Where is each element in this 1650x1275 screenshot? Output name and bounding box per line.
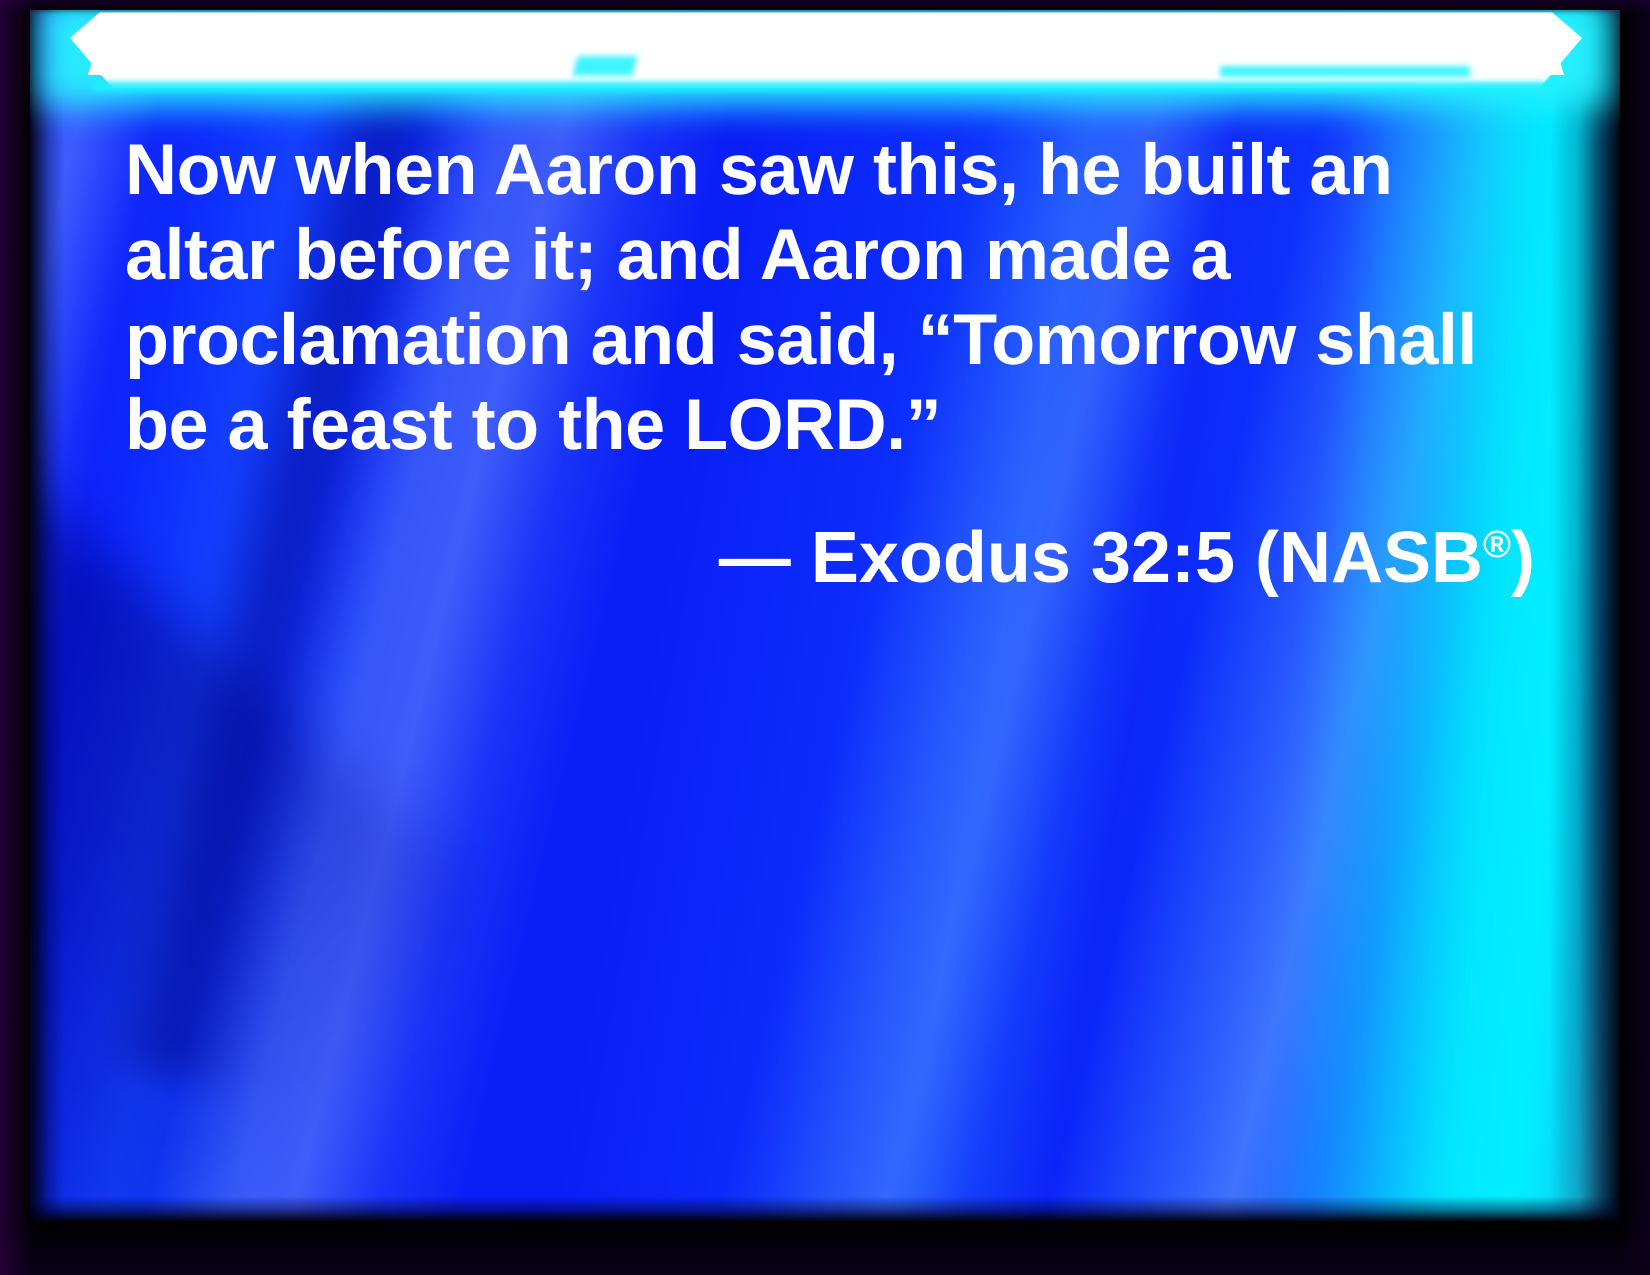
background-left-edge-fade (30, 10, 64, 1222)
header-band-group (30, 10, 1620, 110)
verse-text-block: Now when Aaron saw this, he built an alt… (125, 128, 1545, 601)
registered-trademark-icon: ® (1483, 524, 1511, 566)
slide-frame: Now when Aaron saw this, he built an alt… (0, 0, 1650, 1275)
slide-stage: Now when Aaron saw this, he built an alt… (30, 10, 1620, 1222)
attribution-reference: 32:5 (1091, 518, 1235, 598)
attribution-translation-open: (NASB (1255, 518, 1483, 598)
header-band-notch-left (573, 56, 638, 76)
background-right-edge-fade (1550, 10, 1620, 1222)
background-bottom-edge-fade (30, 1196, 1620, 1222)
attribution-spacer-1 (791, 518, 811, 598)
attribution-book: Exodus (811, 518, 1071, 598)
attribution-em-dash: — (719, 518, 791, 598)
attribution-translation-close: ) (1511, 518, 1535, 598)
header-band-notch-right (1220, 66, 1470, 77)
verse-attribution: — Exodus 32:5 (NASB®) (125, 516, 1545, 601)
attribution-spacer-2 (1071, 518, 1091, 598)
verse-line-4: be a feast to the LORD.” (125, 383, 1545, 468)
attribution-spacer-3 (1235, 518, 1255, 598)
verse-line-2: altar before it; and Aaron made a (125, 213, 1545, 298)
header-band-underline (92, 82, 1560, 91)
verse-line-1: Now when Aaron saw this, he built an (125, 128, 1545, 213)
verse-line-3: proclamation and said, “Tomorrow shall (125, 298, 1545, 383)
